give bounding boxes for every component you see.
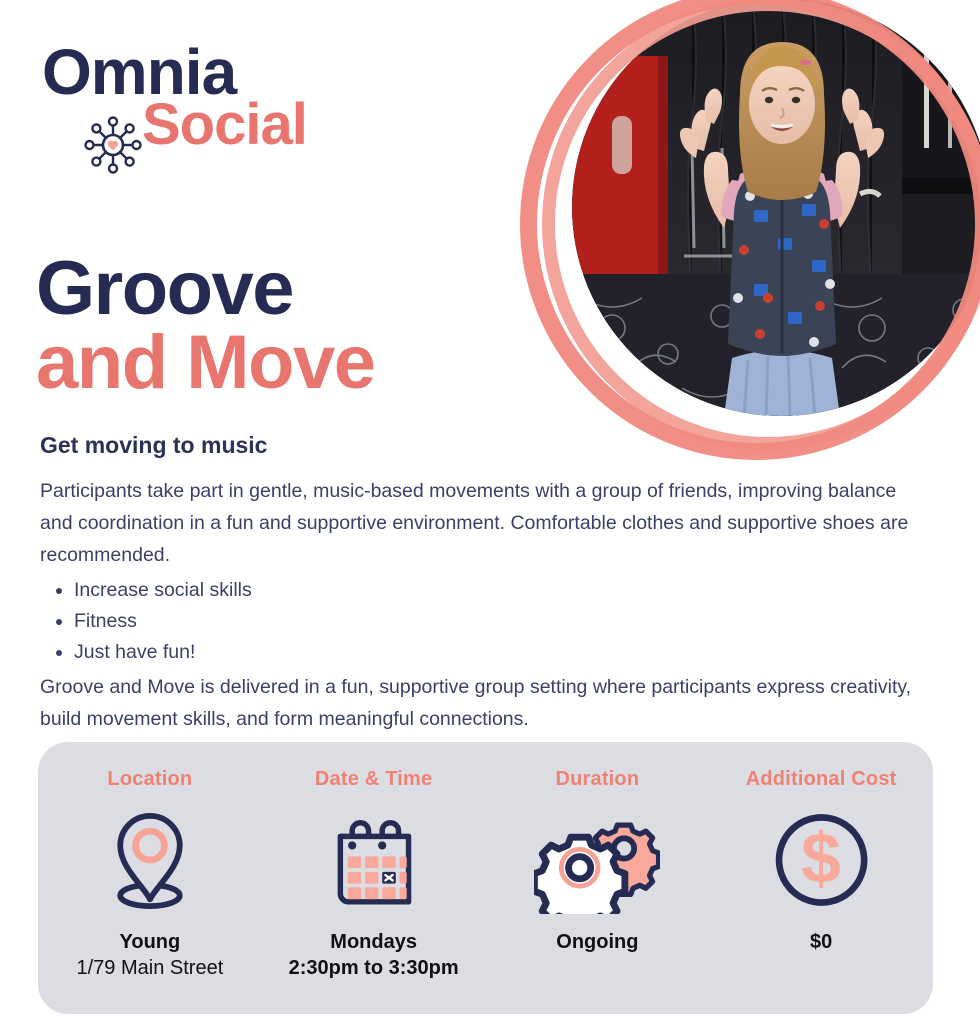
detail-value-secondary: 1/79 Main Street <box>77 955 224 981</box>
detail-column-date-time: Date & Time <box>262 742 486 1014</box>
detail-value-primary: $0 <box>810 929 832 955</box>
description-paragraph-2: Groove and Move is delivered in a fun, s… <box>40 671 930 735</box>
detail-values: Mondays 2:30pm to 3:30pm <box>289 929 459 981</box>
hero-photo-block <box>520 0 980 460</box>
logo-word-social: Social <box>142 96 307 154</box>
map-pin-icon <box>85 805 215 915</box>
dollar-circle-icon: $ <box>756 805 886 915</box>
description-paragraph-1: Participants take part in gentle, music-… <box>40 475 930 571</box>
title-line-1: Groove <box>36 252 375 326</box>
photo-frame-inner-ring <box>542 0 980 450</box>
brand-logo: Omnia Social <box>40 40 360 180</box>
details-panel: Location Young 1/79 Main Street Date & T… <box>38 742 933 1014</box>
flyer-page: Omnia Social Groove <box>0 0 980 1024</box>
detail-values: Ongoing <box>556 929 638 955</box>
photo-frame-outer-ring <box>520 0 980 460</box>
section-subheading: Get moving to music <box>40 432 267 459</box>
network-heart-icon <box>80 112 146 178</box>
detail-label: Date & Time <box>315 768 432 791</box>
list-item: Increase social skills <box>74 575 930 606</box>
detail-label: Duration <box>555 768 639 791</box>
detail-column-location: Location Young 1/79 Main Street <box>38 742 262 1014</box>
benefits-list: Increase social skills Fitness Just have… <box>40 575 930 668</box>
title-line-2: and Move <box>36 326 375 400</box>
detail-value-primary: Mondays <box>289 929 459 955</box>
detail-values: Young 1/79 Main Street <box>77 929 224 981</box>
detail-column-duration: Duration Ongoing <box>486 742 710 1014</box>
photo-illustration <box>572 0 980 416</box>
detail-label: Additional Cost <box>746 768 897 791</box>
svg-text:$: $ <box>801 819 841 899</box>
gears-icon <box>532 805 662 915</box>
detail-column-additional-cost: Additional Cost $ $0 <box>709 742 933 1014</box>
detail-values: $0 <box>810 929 832 955</box>
detail-value-secondary: 2:30pm to 3:30pm <box>289 955 459 981</box>
list-item: Fitness <box>74 606 930 637</box>
calendar-icon <box>309 805 439 915</box>
participant-photo <box>572 0 980 416</box>
detail-label: Location <box>107 768 192 791</box>
list-item: Just have fun! <box>74 637 930 668</box>
detail-value-primary: Young <box>77 929 224 955</box>
detail-value-primary: Ongoing <box>556 929 638 955</box>
description-block: Participants take part in gentle, music-… <box>40 475 930 735</box>
page-title: Groove and Move <box>36 252 375 401</box>
